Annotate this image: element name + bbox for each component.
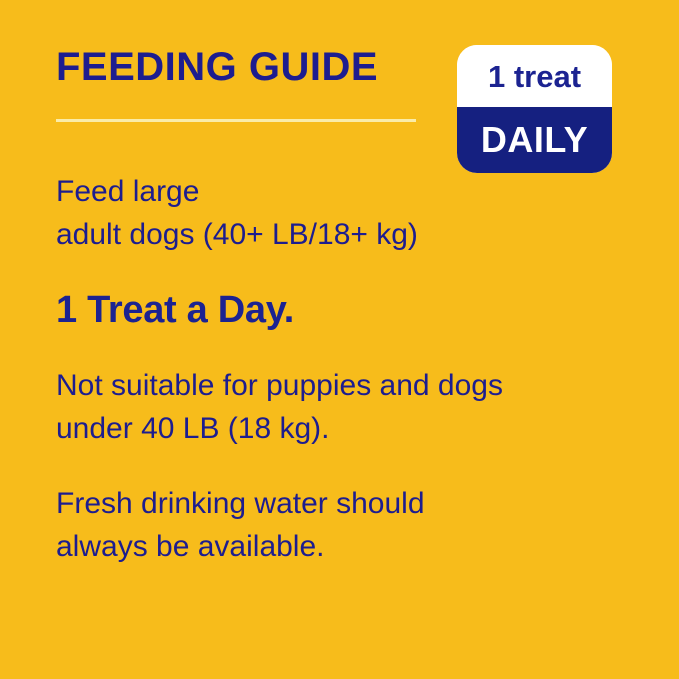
feeding-guide-panel: FEEDING GUIDE 1 treat DAILY Feed large a…: [0, 0, 679, 679]
daily-dosage-badge: 1 treat DAILY: [457, 45, 612, 173]
badge-top-section: 1 treat: [457, 45, 612, 107]
feeding-instructions: Feed large adult dogs (40+ LB/18+ kg) 1 …: [56, 170, 656, 568]
page-title: FEEDING GUIDE: [56, 47, 378, 87]
header: FEEDING GUIDE 1 treat DAILY: [0, 0, 679, 180]
title-divider: [56, 119, 416, 122]
fresh-water-note: Fresh drinking water should always be av…: [56, 482, 656, 568]
badge-frequency-label: DAILY: [481, 122, 588, 158]
badge-bottom-section: DAILY: [457, 107, 612, 173]
feeding-amount-heading: 1 Treat a Day.: [56, 288, 656, 332]
feeding-intro-text: Feed large adult dogs (40+ LB/18+ kg): [56, 170, 656, 256]
badge-treat-count-label: 1 treat: [488, 61, 581, 92]
feeding-warning-text: Not suitable for puppies and dogs under …: [56, 364, 656, 450]
